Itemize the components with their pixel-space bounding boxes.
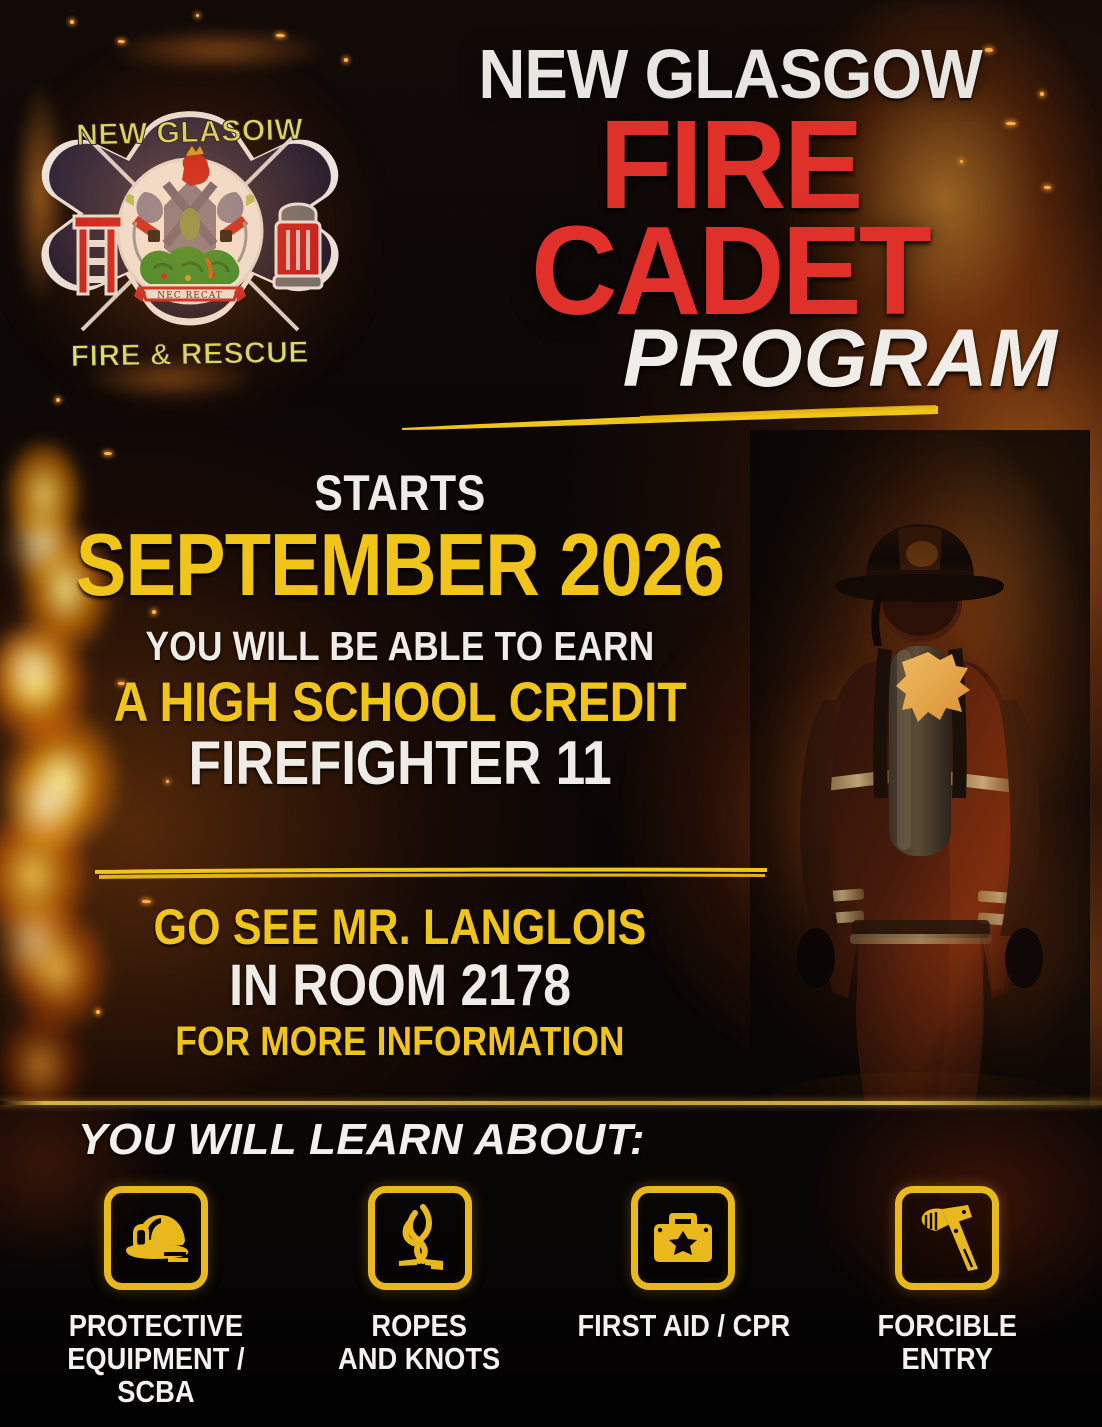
photo-vignette (750, 430, 1090, 1130)
icon-box-ropes-and-knots (368, 1186, 472, 1290)
fire-cadet-program-poster: NEC RECAT (0, 0, 1102, 1427)
fire-department-badge: NEC RECAT (30, 72, 350, 390)
poster-headline: NEW GLASGOW FIRE CADET PROGRAM (380, 42, 1080, 396)
firefighter-helmet-icon (120, 1205, 192, 1271)
topic-protective-equipment: PROTECTIVE EQUIPMENT / SCBA (24, 1186, 288, 1409)
certification-text: FIREFIGHTER 11 (73, 732, 727, 795)
contact-person: GO SEE MR. LANGLOIS (73, 902, 727, 952)
start-date: SEPTEMBER 2026 (73, 520, 727, 610)
topic-label: FORCIBLE ENTRY (877, 1310, 1016, 1376)
topic-label: FIRST AID / CPR (577, 1310, 790, 1343)
rope-knot-icon (387, 1203, 453, 1273)
headline-line-2: FIRE CADET (398, 112, 1063, 324)
brush-stroke-divider (400, 404, 940, 430)
program-details: STARTS SEPTEMBER 2026 YOU WILL BE ABLE T… (20, 468, 780, 795)
badge-glow (2, 44, 378, 418)
firefighter-photo (770, 450, 1070, 1110)
icon-box-protective-equipment (104, 1186, 208, 1290)
topic-first-aid-cpr: FIRST AID / CPR (552, 1186, 816, 1409)
topic-forcible-entry: FORCIBLE ENTRY (815, 1186, 1079, 1409)
icon-box-first-aid-cpr (631, 1186, 735, 1290)
contact-info: GO SEE MR. LANGLOIS IN ROOM 2178 FOR MOR… (20, 902, 780, 1062)
topics-row: PROTECTIVE EQUIPMENT / SCBA (24, 1186, 1079, 1409)
learn-about-heading: YOU WILL LEARN ABOUT: (78, 1118, 645, 1162)
topic-label: PROTECTIVE EQUIPMENT / SCBA (40, 1310, 272, 1409)
fire-axe-icon (912, 1203, 982, 1273)
section-divider-line (0, 1101, 1102, 1105)
first-aid-kit-icon (649, 1209, 717, 1267)
contact-note: FOR MORE INFORMATION (73, 1021, 727, 1062)
contact-room: IN ROOM 2178 (73, 956, 727, 1015)
icon-box-forcible-entry (895, 1186, 999, 1290)
yellow-rule-divider (95, 866, 767, 878)
topic-ropes-and-knots: ROPES AND KNOTS (288, 1186, 552, 1409)
earn-label: YOU WILL BE ABLE TO EARN (73, 626, 727, 667)
topic-label: ROPES AND KNOTS (339, 1310, 501, 1376)
credit-text: A HIGH SCHOOL CREDIT (73, 673, 727, 730)
starts-label: STARTS (73, 468, 727, 518)
